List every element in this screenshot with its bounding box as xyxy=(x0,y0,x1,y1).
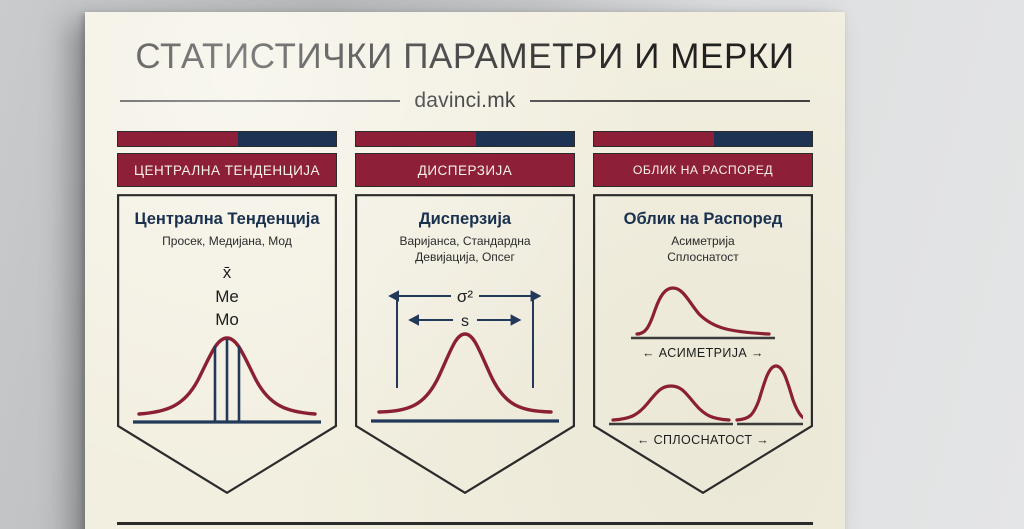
topbar-segment-red xyxy=(356,132,476,146)
figure-distribution-shape: ← АСИМЕТРИЈА → ← СПЛОСНАТОСТ → xyxy=(603,272,803,452)
card-distribution-shape: Облик на Распоред Асиметрија Сплоснатост… xyxy=(593,194,813,494)
stddev-label: s xyxy=(461,313,469,330)
leptokurtic-curve xyxy=(737,366,803,420)
card-subtitle-distribution-shape: Асиметрија Сплоснатост xyxy=(667,234,739,266)
figure-central-tendency: x̄ Me Mo xyxy=(127,256,327,441)
topbar-segment-navy xyxy=(714,132,812,146)
marker-label-median: Me xyxy=(215,287,239,306)
topbar-central-tendency xyxy=(117,131,337,147)
columns-row: ЦЕНТРАЛНА ТЕНДЕНЦИЈА Централна Тенденциј… xyxy=(117,131,813,494)
card-subtitle-line-1: Асиметрија xyxy=(667,234,739,250)
site-credit: davinci.mk xyxy=(414,89,515,113)
card-subtitle-line-2: Девијација, Опсег xyxy=(399,250,530,266)
topbar-segment-navy xyxy=(238,132,336,146)
chart-shape-pair: ← АСИМЕТРИЈА → ← СПЛОСНАТОСТ → xyxy=(603,272,803,452)
rule-left xyxy=(120,100,400,102)
skewed-distribution-curve xyxy=(637,288,769,334)
chart-normal-with-markers: x̄ Me Mo xyxy=(127,256,327,441)
card-content-dispersion: Дисперзија Варијанса, Стандардна Девијац… xyxy=(355,194,575,494)
footer-divider xyxy=(117,522,813,525)
card-content-central-tendency: Централна Тенденција Просек, Медијана, М… xyxy=(117,194,337,494)
subtitle-row: davinci.mk xyxy=(117,89,813,113)
badge-central-tendency[interactable]: ЦЕНТРАЛНА ТЕНДЕНЦИЈА xyxy=(117,153,337,187)
card-central-tendency: Централна Тенденција Просек, Медијана, М… xyxy=(117,194,337,494)
marker-label-mean: x̄ xyxy=(223,263,232,282)
badge-distribution-shape[interactable]: ОБЛИК НА РАСПОРЕД xyxy=(593,153,813,187)
topbar-distribution-shape xyxy=(593,131,813,147)
skewness-axis-label: ← АСИМЕТРИЈА → xyxy=(642,346,764,360)
card-dispersion: Дисперзија Варијанса, Стандардна Девијац… xyxy=(355,194,575,494)
topbar-dispersion xyxy=(355,131,575,147)
card-subtitle-dispersion: Варијанса, Стандардна Девијација, Опсег xyxy=(399,234,530,266)
card-subtitle-central-tendency: Просек, Медијана, Мод xyxy=(162,234,292,250)
card-content-distribution-shape: Облик на Распоред Асиметрија Сплоснатост… xyxy=(593,194,813,494)
page-title: СТАТИСТИЧКИ ПАРАМЕТРИ И МЕРКИ xyxy=(117,12,813,77)
chart-normal-with-spread-arrows: σ² s xyxy=(365,272,565,440)
normal-distribution-curve xyxy=(379,334,551,412)
card-title-distribution-shape: Облик на Распоред xyxy=(624,210,783,229)
figure-dispersion: σ² s xyxy=(365,272,565,440)
topbar-segment-red xyxy=(594,132,714,146)
poster-sheet: СТАТИСТИЧКИ ПАРАМЕТРИ И МЕРКИ davinci.mk… xyxy=(85,12,845,529)
rule-right xyxy=(530,100,810,102)
marker-label-mode: Mo xyxy=(215,310,239,329)
topbar-segment-navy xyxy=(476,132,574,146)
column-distribution-shape: ОБЛИК НА РАСПОРЕД Облик на Распоред Асим… xyxy=(593,131,813,494)
variance-label: σ² xyxy=(457,287,473,306)
card-title-dispersion: Дисперзија xyxy=(419,210,511,229)
card-subtitle-line-1: Варијанса, Стандардна xyxy=(399,234,530,250)
badge-dispersion[interactable]: ДИСПЕРЗИЈА xyxy=(355,153,575,187)
kurtosis-axis-label: ← СПЛОСНАТОСТ → xyxy=(637,433,769,447)
card-subtitle-line-2: Сплоснатост xyxy=(667,250,739,266)
column-dispersion: ДИСПЕРЗИЈА Дисперзија Варијанса, Стандар… xyxy=(355,131,575,494)
topbar-segment-red xyxy=(118,132,238,146)
platykurtic-curve xyxy=(613,386,729,420)
column-central-tendency: ЦЕНТРАЛНА ТЕНДЕНЦИЈА Централна Тенденциј… xyxy=(117,131,337,494)
card-title-central-tendency: Централна Тенденција xyxy=(134,210,319,229)
